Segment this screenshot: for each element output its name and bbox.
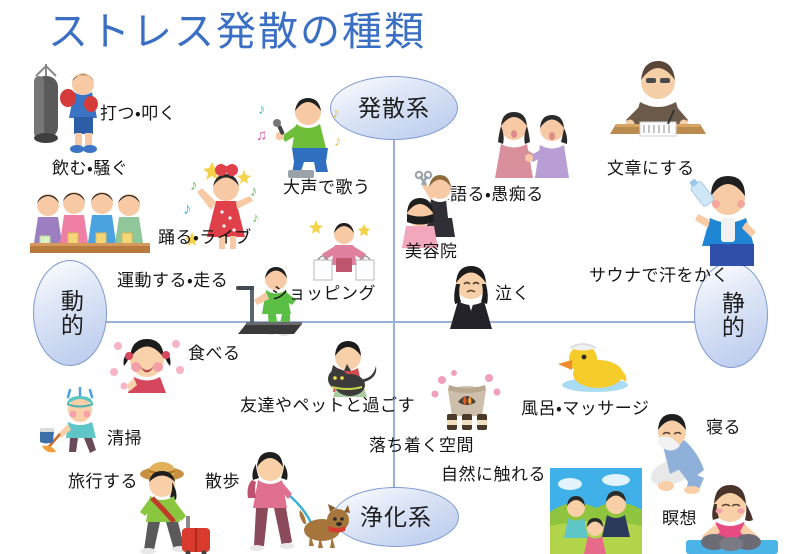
- svg-text:♪: ♪: [258, 101, 266, 118]
- two-women-talking-icon: [488, 110, 574, 180]
- label-ochitsuku-kuukan: 落ち着く空間: [369, 437, 474, 454]
- svg-text:♪: ♪: [334, 133, 342, 150]
- family-in-nature-icon: [550, 468, 642, 554]
- singing-microphone-icon: ♪ ♫ ♪ ♪: [256, 92, 348, 176]
- label-taberu: 食べる: [188, 345, 241, 362]
- label-kataru-guchiru: 語る・愚痴る: [450, 186, 544, 203]
- label-ryokou-suru: 旅行する: [68, 473, 138, 490]
- label-meisou: 瞑想: [662, 510, 697, 527]
- label-bunshou-ni-suru: 文章にする: [607, 160, 695, 177]
- pole-label-top: 発散系: [330, 76, 458, 140]
- pole-right-text: 静的: [719, 291, 744, 339]
- man-writing-desk-icon: [610, 58, 706, 150]
- label-utsu-tataku: 打つ・叩く: [100, 105, 176, 122]
- label-naku: 泣く: [495, 285, 530, 302]
- pole-bottom-text: 浄化系: [360, 505, 432, 530]
- label-odoru-live: 踊る・ライブ: [158, 229, 252, 246]
- label-sanpo: 散歩: [205, 473, 240, 490]
- svg-text:♪: ♪: [252, 209, 259, 225]
- label-neru: 寝る: [706, 419, 741, 436]
- label-seisou: 清掃: [107, 430, 142, 447]
- aroma-diffuser-icon: [432, 370, 502, 432]
- hair-salon-icon: [398, 170, 468, 250]
- drinking-water-sauna-icon: [684, 172, 762, 268]
- svg-text:♫: ♫: [256, 127, 267, 144]
- stress-relief-chart: ストレス発散の種類 発散系 浄化系 動的 静的: [0, 0, 800, 554]
- rubber-duck-icon: [556, 338, 634, 394]
- eating-girl-icon: [110, 332, 186, 394]
- pole-label-bottom: 浄化系: [333, 487, 459, 547]
- label-sauna-de-ase: サウナで汗をかく: [589, 267, 729, 284]
- label-shizen-ni-fureru: 自然に触れる: [441, 466, 546, 483]
- label-nomu-sawagu: 飲む・騒ぐ: [52, 160, 128, 177]
- svg-text:♪: ♪: [332, 105, 340, 122]
- label-tomodachi-pet: 友達やペットと過ごす: [240, 397, 415, 414]
- girl-with-cat-icon: [318, 342, 386, 398]
- pole-left-text: 動的: [58, 289, 83, 337]
- label-furo-massage: 風呂・マッサージ: [521, 400, 649, 417]
- drinking-party-icon: [26, 183, 154, 255]
- svg-text:♪: ♪: [190, 177, 198, 194]
- label-shopping: ショッピング: [271, 285, 376, 302]
- label-biyouin: 美容院: [405, 243, 458, 260]
- crying-woman-icon: [440, 264, 502, 330]
- meditation-woman-icon: [686, 486, 778, 554]
- horizontal-axis-line: [78, 321, 724, 323]
- dog-walking-icon: [240, 450, 346, 554]
- svg-text:♪: ♪: [250, 183, 258, 200]
- pole-top-text: 発散系: [358, 96, 430, 121]
- page-title: ストレス発散の種類: [48, 12, 426, 52]
- svg-text:♪: ♪: [183, 199, 192, 218]
- pole-label-left: 動的: [33, 260, 107, 366]
- label-oogoe-de-utau: 大声で歌う: [283, 179, 371, 196]
- shopping-bags-icon: [308, 218, 380, 288]
- label-undou-hashiru: 運動する・走る: [117, 272, 228, 289]
